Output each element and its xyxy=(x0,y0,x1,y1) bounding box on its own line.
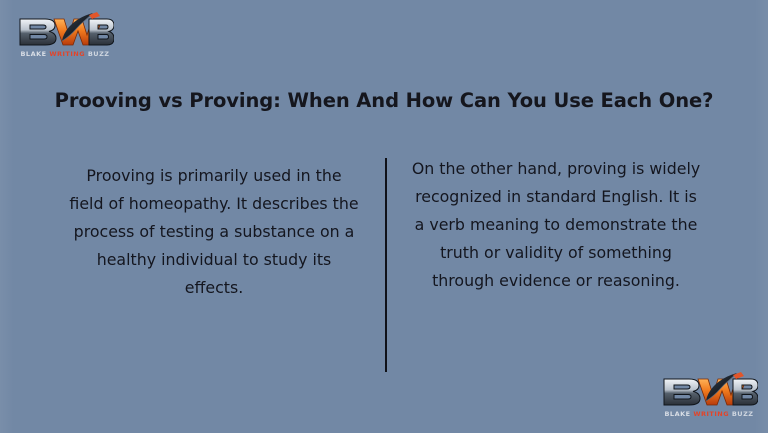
brand-tagline-part1: BLAKE xyxy=(664,410,690,418)
brand-tagline-part1: BLAKE xyxy=(20,50,46,58)
brand-logo-bottom-right: BLAKE WRITING BUZZ xyxy=(658,372,758,424)
logo-letter-b-left xyxy=(20,19,56,45)
logo-letter-b-right xyxy=(89,19,114,45)
brand-logo-top-left: BLAKE WRITING BUZZ xyxy=(14,12,114,64)
bwb-logo-mark-secondary xyxy=(658,372,758,410)
brand-tagline: BLAKE WRITING BUZZ xyxy=(20,49,110,59)
brand-tagline-part3: BUZZ xyxy=(88,50,110,58)
logo-letter-b-left xyxy=(664,379,700,405)
brand-tagline-part3: BUZZ xyxy=(732,410,754,418)
logo-letter-b-right xyxy=(733,379,758,405)
page-title: Prooving vs Proving: When And How Can Yo… xyxy=(0,88,768,114)
bwb-logo-mark xyxy=(14,12,114,50)
slide-canvas: BLAKE WRITING BUZZ Prooving vs Proving: … xyxy=(0,0,768,433)
comparison-columns: Prooving is primarily used in the field … xyxy=(0,155,768,375)
column-left-prooving: Prooving is primarily used in the field … xyxy=(68,155,360,302)
brand-tagline-part2: WRITING xyxy=(693,410,729,418)
column-divider xyxy=(385,158,387,372)
column-right-proving: On the other hand, proving is widely rec… xyxy=(410,155,702,295)
brand-tagline-secondary: BLAKE WRITING BUZZ xyxy=(664,409,754,419)
brand-tagline-part2: WRITING xyxy=(49,50,85,58)
